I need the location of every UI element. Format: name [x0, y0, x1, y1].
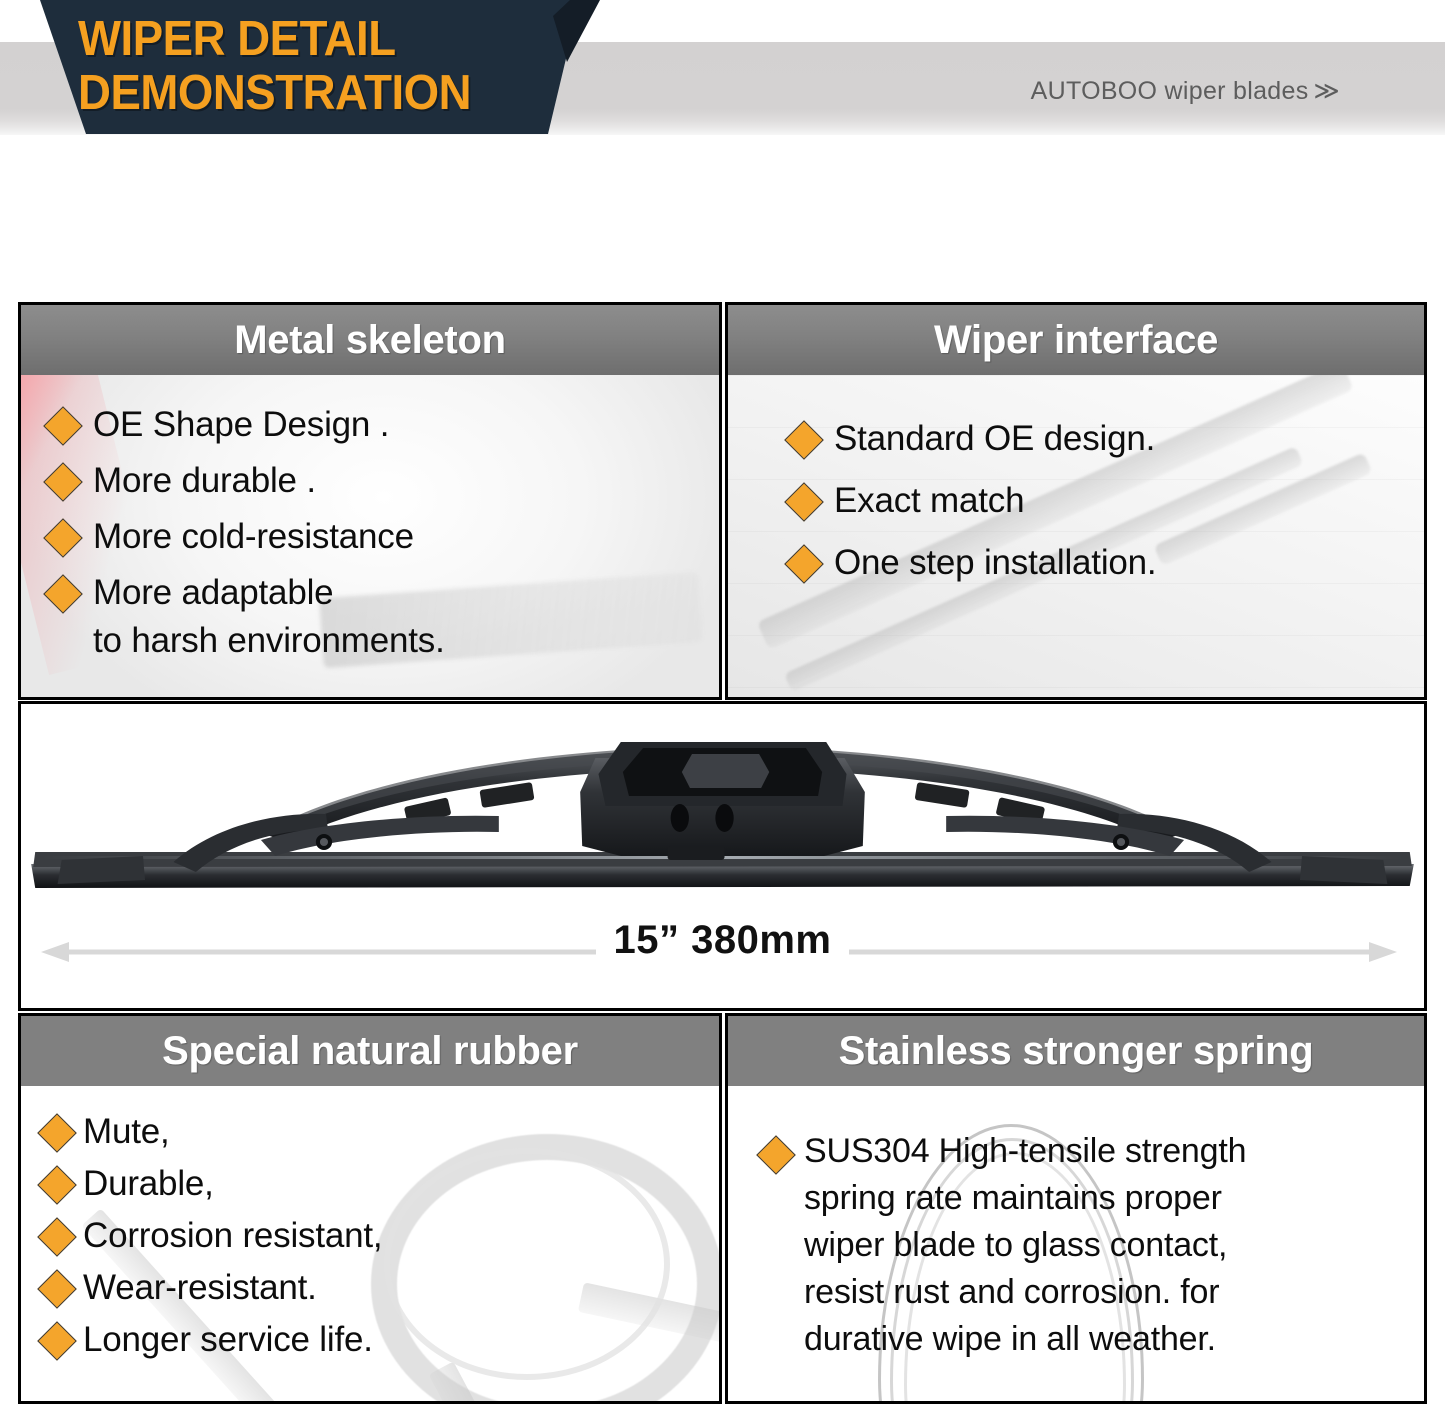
- dimension-label-wrap: 15” 380mm: [39, 918, 1406, 963]
- double-chevron-right-icon: ≫: [1314, 77, 1340, 105]
- bullet-text: Longer service life.: [83, 1316, 373, 1364]
- panel-body: SUS304 High-tensile strength spring rate…: [728, 1086, 1424, 1401]
- list-item: Durable,: [43, 1160, 719, 1208]
- brand-label: AUTOBOO wiper blades≫: [1031, 76, 1340, 106]
- feature-bullet-list: Mute, Durable, Corrosion resistant, Wear…: [21, 1086, 719, 1364]
- diamond-bullet-icon: [756, 1135, 796, 1175]
- panel-title: Wiper interface: [934, 318, 1218, 363]
- product-area: 15” 380mm: [21, 704, 1424, 1008]
- diamond-bullet-icon: [37, 1321, 77, 1361]
- dimension-indicator: 15” 380mm: [39, 922, 1406, 966]
- list-item: More adaptable to harsh environments.: [49, 569, 719, 665]
- bullet-text: OE Shape Design .: [93, 401, 389, 449]
- list-item: SUS304 High-tensile strength spring rate…: [762, 1128, 1406, 1363]
- bullet-text: Mute,: [83, 1108, 170, 1156]
- list-item: Standard OE design.: [790, 415, 1424, 463]
- brand-name: AUTOBOO wiper blades: [1031, 77, 1309, 105]
- list-item: Corrosion resistant,: [43, 1212, 719, 1260]
- panel-wiper-interface: Wiper interface Standard OE design. Ex: [725, 302, 1427, 700]
- list-item: Wear-resistant.: [43, 1264, 719, 1312]
- bullet-text: Standard OE design.: [834, 415, 1155, 463]
- diamond-bullet-icon: [784, 544, 824, 584]
- panel-metal-skeleton: Metal skeleton OE Shape Design . More du…: [18, 302, 722, 700]
- diamond-bullet-icon: [43, 462, 83, 502]
- diamond-bullet-icon: [37, 1113, 77, 1153]
- list-item: One step installation.: [790, 539, 1424, 587]
- feature-bullet-list: OE Shape Design . More durable . More co…: [21, 375, 719, 665]
- page-title: WIPER DETAIL DEMONSTRATION: [78, 12, 515, 120]
- list-item: Mute,: [43, 1108, 719, 1156]
- bullet-text: Durable,: [83, 1160, 214, 1208]
- diamond-bullet-icon: [37, 1269, 77, 1309]
- diamond-bullet-icon: [784, 420, 824, 460]
- diamond-bullet-icon: [37, 1165, 77, 1205]
- panel-title-bar: Stainless stronger spring: [728, 1016, 1424, 1086]
- diamond-bullet-icon: [43, 574, 83, 614]
- bullet-text: Corrosion resistant,: [83, 1212, 382, 1260]
- list-item: Exact match: [790, 477, 1424, 525]
- panel-title: Stainless stronger spring: [839, 1029, 1314, 1074]
- bullet-text: More cold-resistance: [93, 513, 414, 561]
- panel-special-natural-rubber: Special natural rubber Mute,: [18, 1013, 722, 1404]
- panel-title: Special natural rubber: [162, 1029, 578, 1074]
- bullet-text: One step installation.: [834, 539, 1156, 587]
- bullet-text: SUS304 High-tensile strength spring rate…: [804, 1128, 1246, 1363]
- diamond-bullet-icon: [37, 1217, 77, 1257]
- panel-title-bar: Wiper interface: [728, 305, 1424, 375]
- page-header: WIPER DETAIL DEMONSTRATION AUTOBOO wiper…: [0, 0, 1445, 140]
- diamond-bullet-icon: [43, 406, 83, 446]
- wiper-blade-product-image: [21, 714, 1424, 914]
- panel-body: Mute, Durable, Corrosion resistant, Wear…: [21, 1086, 719, 1401]
- list-item: More cold-resistance: [49, 513, 719, 561]
- panel-body: Standard OE design. Exact match One step…: [728, 375, 1424, 697]
- dimension-label: 15” 380mm: [596, 918, 850, 962]
- bullet-text: More durable .: [93, 457, 316, 505]
- panel-title-bar: Special natural rubber: [21, 1016, 719, 1086]
- panel-title: Metal skeleton: [234, 318, 505, 363]
- feature-panel-grid: Metal skeleton OE Shape Design . More du…: [18, 302, 1427, 1402]
- panel-body: OE Shape Design . More durable . More co…: [21, 375, 719, 697]
- diamond-bullet-icon: [784, 482, 824, 522]
- panel-stainless-stronger-spring: Stainless stronger spring SUS304 High-te…: [725, 1013, 1427, 1404]
- bullet-text: Wear-resistant.: [83, 1264, 317, 1312]
- list-item: OE Shape Design .: [49, 401, 719, 449]
- feature-bullet-list: Standard OE design. Exact match One step…: [728, 375, 1424, 587]
- bullet-text: More adaptable to harsh environments.: [93, 569, 445, 665]
- bullet-text: Exact match: [834, 477, 1024, 525]
- feature-bullet-list: SUS304 High-tensile strength spring rate…: [728, 1086, 1424, 1363]
- diamond-bullet-icon: [43, 518, 83, 558]
- list-item: More durable .: [49, 457, 719, 505]
- title-ribbon: WIPER DETAIL DEMONSTRATION: [0, 0, 610, 134]
- panel-product-dimensions: 15” 380mm: [18, 701, 1427, 1011]
- panel-title-bar: Metal skeleton: [21, 305, 719, 375]
- list-item: Longer service life.: [43, 1316, 719, 1364]
